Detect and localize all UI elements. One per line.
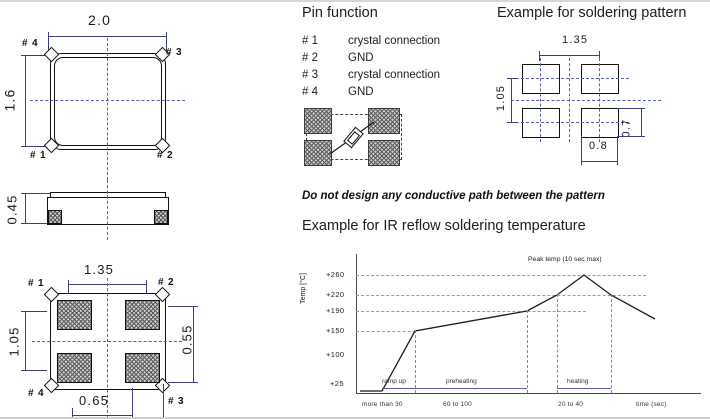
- terminal-left-side: [48, 210, 62, 224]
- centerline-vertical-side: [107, 180, 108, 240]
- chart-zone-label-heating: heating: [567, 378, 588, 385]
- datasheet-page: 2.0 1.6 # 4 # 3 # 1 # 2: [0, 0, 710, 419]
- pin-label-1: # 1: [30, 150, 46, 161]
- chart-ytick-220: +220: [326, 290, 345, 299]
- chart-gridline-260: [356, 275, 646, 276]
- chart-x-axis: [356, 393, 701, 394]
- chart-ytick-150: +150: [326, 326, 345, 335]
- dim-pad-offset-line: [72, 415, 132, 416]
- centerline-vertical-top: [107, 38, 108, 180]
- sp-centerline-row-top: [511, 78, 629, 79]
- sp-dim-pad-height: 0.7: [620, 119, 632, 138]
- dim-side-height: 0.45: [5, 194, 20, 224]
- chart-x-axis-title: time (sec): [636, 401, 667, 408]
- dim-pad-height-line: [193, 306, 194, 382]
- solder-pad-bottom-right: [581, 108, 619, 138]
- dim-line-width: [48, 36, 166, 37]
- chart-ytick-100: +100: [326, 350, 345, 359]
- pin-function-row-1-pin: # 1: [302, 35, 318, 47]
- dim-bottom-span-x-ext-r: [146, 280, 147, 294]
- bottom-view-drawing: 1.35 1.05 0.55: [0, 248, 292, 419]
- soldering-pattern-title: Example for soldering pattern: [497, 5, 686, 21]
- pin-function-row-4-function: GND: [348, 86, 374, 98]
- chart-zone-label-ramp-up: ramp up: [382, 378, 406, 385]
- pin-function-row-4-pin: # 4: [302, 86, 318, 98]
- chart-zone-label-preheating: preheating: [446, 378, 477, 385]
- solder-pad-top-left: [522, 64, 560, 94]
- pad-pin1: [57, 300, 92, 330]
- pad-pin2: [125, 300, 160, 330]
- ir-reflow-temperature-chart: Temp [°C] +260 +220 +190 +150 +100 +25: [300, 250, 705, 415]
- pin-function-row-3-function: crystal connection: [348, 69, 440, 81]
- information-column: Pin function # 1 crystal connection # 2 …: [292, 0, 710, 419]
- pin-label-bot-3: # 3: [168, 396, 184, 407]
- chart-gridline-220: [356, 295, 646, 296]
- chart-zone-divider-2: [527, 310, 528, 393]
- pad-pin3: [125, 353, 160, 383]
- sp-dim-span-y-ext-t: [507, 78, 517, 79]
- chart-xlabel-ramp-up: more than 30: [362, 401, 403, 408]
- pin-label-bot-4: # 4: [28, 388, 44, 399]
- chart-zone-divider-1: [415, 330, 416, 393]
- chart-peak-annotation: Peak temp (10 sec max): [528, 256, 602, 263]
- sp-centerline-middle-h: [511, 100, 661, 101]
- chart-zone-divider-4: [611, 294, 612, 393]
- dim-side-ext-top: [21, 193, 51, 194]
- sp-dim-span-y-line: [511, 78, 512, 122]
- dim-bottom-span-y-ext-b: [21, 370, 47, 371]
- chart-ytick-190: +190: [326, 306, 345, 315]
- chart-zone-span-ramp-up: [382, 388, 415, 389]
- soldering-pattern-drawing: 1.35 1.05 0.7: [497, 30, 702, 175]
- chart-ytick-25: +25: [330, 379, 344, 388]
- reflow-section-title: Example for IR reflow soldering temperat…: [302, 218, 586, 234]
- chart-gridline-150: [356, 331, 416, 332]
- sp-dim-span-x-line: [539, 55, 599, 56]
- conductive-path-note: Do not design any conductive path betwee…: [302, 190, 605, 202]
- pin-function-row-2-function: GND: [348, 52, 374, 64]
- top-view-drawing: 2.0 1.6 # 4 # 3 # 1 # 2: [0, 0, 292, 180]
- dim-pad-offset-ext-r2: [163, 384, 164, 419]
- sp-dim-pad-width-line: [581, 161, 617, 162]
- solder-pad-top-right: [581, 64, 619, 94]
- chart-zone-span-preheating: [415, 388, 527, 389]
- pin-function-row-3-pin: # 3: [302, 69, 318, 81]
- sp-dim-pad-height-ext-b: [617, 136, 645, 137]
- pin-function-row-1-function: crystal connection: [348, 35, 440, 47]
- dim-top-width: 2.0: [88, 12, 111, 28]
- sp-dim-pad-width-ext-l: [581, 136, 582, 165]
- pin-label-bot-2: # 2: [158, 277, 174, 288]
- sp-dim-span-x: 1.35: [562, 34, 588, 46]
- dim-bottom-span-x-ext-l: [68, 280, 69, 294]
- dim-pad-height-ext-t: [168, 306, 198, 307]
- chart-zone-divider-3: [557, 294, 558, 393]
- package-outline-top-inner: [54, 57, 162, 146]
- pin-function-row-2-pin: # 2: [302, 52, 318, 64]
- mechanical-drawings-column: 2.0 1.6 # 4 # 3 # 1 # 2: [0, 0, 292, 419]
- dim-pad-offset: 0.65: [79, 393, 109, 408]
- sp-dim-span-y-ext-b: [507, 122, 517, 123]
- dim-top-height: 1.6: [2, 88, 18, 111]
- chart-xlabel-heating: 20 to 40: [558, 401, 583, 408]
- dim-side-line: [25, 193, 26, 223]
- dim-pad-offset-ext-r: [132, 388, 133, 419]
- pad-pin4: [57, 353, 92, 383]
- chart-y-axis-title: Temp [°C]: [300, 273, 307, 304]
- sp-dim-pad-width: 0.8: [589, 140, 608, 152]
- chart-gridline-190: [356, 311, 586, 312]
- sp-dim-pad-height-ext-t: [617, 108, 645, 109]
- pin-function-title: Pin function: [302, 5, 378, 21]
- sp-centerline-row-bottom: [511, 122, 629, 123]
- crystal-connection-schematic: [304, 108, 406, 166]
- dim-pad-height-ext-b: [168, 382, 198, 383]
- dim-bottom-span-y-line: [25, 311, 26, 370]
- terminal-right-side: [154, 210, 168, 224]
- dim-line-height: [25, 55, 26, 146]
- pin-label-2: # 2: [157, 150, 173, 161]
- pin-label-4: # 4: [22, 38, 38, 49]
- dim-bottom-span-x: 1.35: [84, 262, 114, 277]
- pin-label-bot-1: # 1: [28, 278, 44, 289]
- chart-zone-span-heating: [557, 388, 611, 389]
- dim-bottom-span-y-ext-t: [21, 311, 47, 312]
- package-body-side: [47, 197, 169, 225]
- solder-pad-bottom-left: [522, 108, 560, 138]
- sp-dim-pad-height-line: [641, 108, 642, 136]
- sp-dim-span-y: 1.05: [495, 85, 507, 111]
- chart-xlabel-preheating: 60 to 100: [443, 401, 472, 408]
- chart-ytick-260: +260: [326, 270, 345, 279]
- side-view-drawing: 0.45: [0, 180, 292, 240]
- dim-bottom-span-y: 1.05: [7, 326, 22, 356]
- sp-dim-pad-width-ext-r: [617, 136, 618, 165]
- pin-label-3: # 3: [166, 47, 182, 58]
